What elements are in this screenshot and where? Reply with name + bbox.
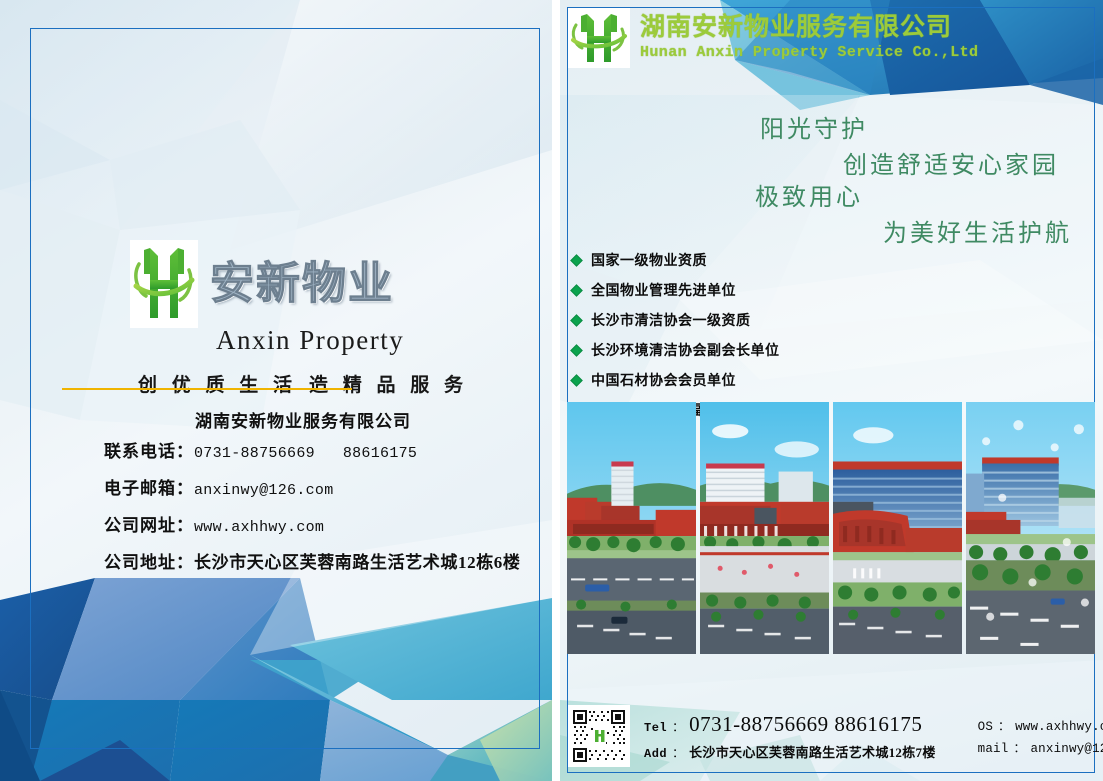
diamond-bullet-icon [570, 374, 583, 387]
diamond-bullet-icon [570, 314, 583, 327]
photo-strip [567, 402, 1095, 654]
logo-title-en: Anxin Property [216, 326, 510, 356]
logo-title-cn: 安新物业 [210, 262, 394, 306]
contact-value-website: www.axhhwy.com [194, 519, 324, 536]
footer-tel-line: Tel ： 0731-88756669 88616175 [644, 712, 936, 737]
photo-panel-4 [966, 402, 1095, 654]
slogan-underline [62, 388, 352, 390]
footer-tel-key: Tel [644, 721, 667, 735]
contact-row-phone: 联系电话： 0731-88756669 88616175 [104, 437, 521, 462]
footer-address-separator: ： [672, 744, 684, 761]
slogan-row: 创 优 质 生 活 造 精 品 服 务 [138, 370, 468, 397]
contact-row-address: 公司地址： 长沙市天心区芙蓉南路生活艺术城12栋6楼 [104, 548, 521, 573]
right-page-header: 湖南安新物业服务有限公司 Hunan Anxin Property Servic… [568, 8, 1095, 68]
contact-info-block: 联系电话： 0731-88756669 88616175 电子邮箱： anxin… [104, 437, 521, 585]
slogan-group: 阳光守护 创造舒适安心家园 极致用心 为美好生活护航 [560, 112, 1103, 252]
slogan-left: 创 优 质 生 活 [138, 370, 297, 397]
diamond-bullet-icon [570, 254, 583, 267]
footer-address-line: Add ： 长沙市天心区芙蓉南路生活艺术城12栋7楼 [644, 742, 936, 761]
contact-label-address: 公司地址： [104, 548, 194, 573]
list-item: 国家一级物业资质 [572, 250, 780, 270]
left-page: 安新物业 Anxin Property 创 优 质 生 活 造 精 品 服 务 … [0, 0, 552, 781]
footer-tel-value: 0731-88756669 88616175 [689, 712, 922, 737]
diamond-bullet-icon [570, 284, 583, 297]
contact-value-email: anxinwy@126.com [194, 482, 334, 499]
header-title-cn: 湖南安新物业服务有限公司 [640, 14, 978, 43]
footer-mail-line: mail ： anxinwy@126.com [978, 739, 1103, 756]
qualification-label: 国家一级物业资质 [591, 250, 707, 270]
slogan-line-4: 为美好生活护航 [883, 216, 1103, 252]
contact-row-email: 电子邮箱： anxinwy@126.com [104, 474, 521, 499]
contact-label-email: 电子邮箱： [104, 474, 194, 499]
list-item: 全国物业管理先进单位 [572, 280, 780, 300]
footer-mail-key: mail [978, 742, 1009, 756]
list-item: 中国石材协会会员单位 [572, 370, 780, 390]
footer-website-line: OS ： www.axhhwy.com [978, 717, 1103, 734]
diamond-bullet-icon [570, 344, 583, 357]
slogan-line-1: 阳光守护 [760, 112, 1103, 148]
photo-panel-3 [833, 402, 962, 654]
left-logo-block: 安新物业 Anxin Property 创 优 质 生 活 造 精 品 服 务 … [130, 240, 510, 432]
footer-address-key: Add [644, 747, 667, 761]
right-page: 湖南安新物业服务有限公司 Hunan Anxin Property Servic… [560, 0, 1103, 781]
qr-code-icon [568, 705, 630, 767]
slogan-line-3: 极致用心 [755, 180, 1103, 216]
footer-mail-separator: ： [1013, 739, 1025, 756]
left-company-name: 湖南安新物业服务有限公司 [138, 407, 468, 432]
contact-row-website: 公司网址： www.axhhwy.com [104, 511, 521, 536]
qualification-label: 长沙环境清洁协会副会长单位 [591, 340, 780, 360]
photo-panel-2 [700, 402, 829, 654]
list-item: 长沙环境清洁协会副会长单位 [572, 340, 780, 360]
qualification-label: 长沙市清洁协会一级资质 [591, 310, 751, 330]
list-item: 长沙市清洁协会一级资质 [572, 310, 780, 330]
anxin-header-logo-icon [568, 8, 630, 68]
contact-label-phone: 联系电话： [104, 437, 194, 462]
right-page-footer: Tel ： 0731-88756669 88616175 Add ： 长沙市天心… [568, 705, 1095, 767]
slogan-line-2: 创造舒适安心家园 [843, 148, 1103, 184]
qualification-label: 全国物业管理先进单位 [591, 280, 736, 300]
footer-mail-value: anxinwy@126.com [1030, 742, 1103, 756]
footer-contact-primary: Tel ： 0731-88756669 88616175 Add ： 长沙市天心… [644, 712, 936, 761]
anxin-logo-icon [130, 240, 198, 328]
qualification-label: 中国石材协会会员单位 [591, 370, 736, 390]
footer-contact-secondary: OS ： www.axhhwy.com mail ： anxinwy@126.c… [978, 717, 1103, 756]
footer-website-separator: ： [998, 717, 1010, 734]
footer-address-value: 长沙市天心区芙蓉南路生活艺术城12栋7楼 [689, 742, 936, 761]
contact-value-address: 长沙市天心区芙蓉南路生活艺术城12栋6楼 [194, 548, 521, 573]
footer-website-value: www.axhhwy.com [1015, 720, 1103, 734]
photo-panel-1 [567, 402, 696, 654]
footer-website-key: OS [978, 720, 993, 734]
brochure-spread: 安新物业 Anxin Property 创 优 质 生 活 造 精 品 服 务 … [0, 0, 1103, 781]
contact-label-website: 公司网址： [104, 511, 194, 536]
header-title-en: Hunan Anxin Property Service Co.,Ltd [640, 44, 978, 62]
slogan-right: 造 精 品 服 务 [309, 370, 468, 397]
contact-value-phone: 0731-88756669 88616175 [194, 445, 417, 462]
footer-tel-separator: ： [672, 718, 684, 735]
